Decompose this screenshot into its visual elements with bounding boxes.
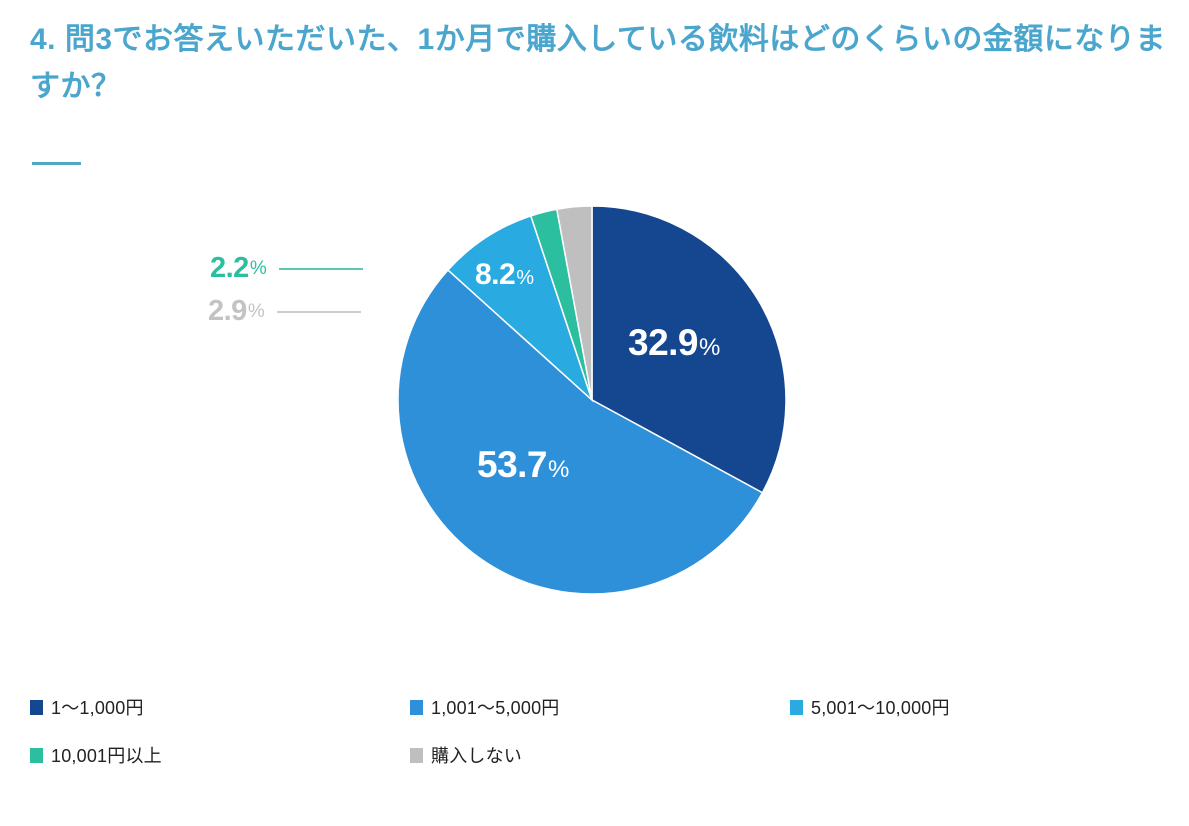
callout-value: 2.9 bbox=[208, 295, 247, 328]
slice-label-percent-sign: % bbox=[548, 456, 569, 484]
legend-swatch-icon bbox=[30, 700, 43, 715]
callout-konyu-shinai: 2.9 % bbox=[208, 295, 361, 328]
legend-item: 1,001〜5,000円 bbox=[410, 694, 790, 720]
slice-label-percent-sign: % bbox=[516, 267, 534, 290]
slice-label-1001-5000yen: 53.7 % bbox=[477, 444, 569, 486]
legend-item: 5,001〜10,000円 bbox=[790, 694, 1150, 720]
callout-leader-line bbox=[277, 311, 361, 313]
legend-item: 1〜1,000円 bbox=[30, 694, 410, 720]
callout-percent-sign: % bbox=[248, 301, 265, 323]
legend-item: 10,001円以上 bbox=[30, 742, 410, 768]
callout-leader-line bbox=[279, 268, 363, 270]
slice-label-5001-10000yen: 8.2 % bbox=[475, 258, 534, 292]
slice-label-value: 8.2 bbox=[475, 258, 515, 292]
legend-swatch-icon bbox=[410, 700, 423, 715]
callout-percent-sign: % bbox=[250, 258, 267, 280]
slice-label-value: 53.7 bbox=[477, 444, 547, 486]
pie-chart: 2.2 % 2.9 % 32.9 % 53.7 % 8.2 % bbox=[0, 0, 1189, 660]
callout-10001yen-ijou: 2.2 % bbox=[210, 252, 363, 285]
legend-item: 購入しない bbox=[410, 742, 790, 768]
legend-swatch-icon bbox=[30, 748, 43, 763]
legend-swatch-icon bbox=[410, 748, 423, 763]
slice-label-1-1000yen: 32.9 % bbox=[628, 322, 720, 364]
slice-label-value: 32.9 bbox=[628, 322, 698, 364]
callout-value: 2.2 bbox=[210, 252, 249, 285]
legend-label: 10,001円以上 bbox=[51, 742, 162, 768]
legend-label: 購入しない bbox=[431, 742, 522, 768]
chart-legend: 1〜1,000円1,001〜5,000円5,001〜10,000円10,001円… bbox=[30, 694, 1150, 768]
legend-label: 5,001〜10,000円 bbox=[811, 694, 950, 720]
pie-chart-svg bbox=[0, 0, 1189, 660]
legend-label: 1,001〜5,000円 bbox=[431, 694, 560, 720]
slice-label-percent-sign: % bbox=[699, 334, 720, 362]
pie-slice-group bbox=[398, 206, 786, 594]
legend-swatch-icon bbox=[790, 700, 803, 715]
legend-label: 1〜1,000円 bbox=[51, 694, 144, 720]
